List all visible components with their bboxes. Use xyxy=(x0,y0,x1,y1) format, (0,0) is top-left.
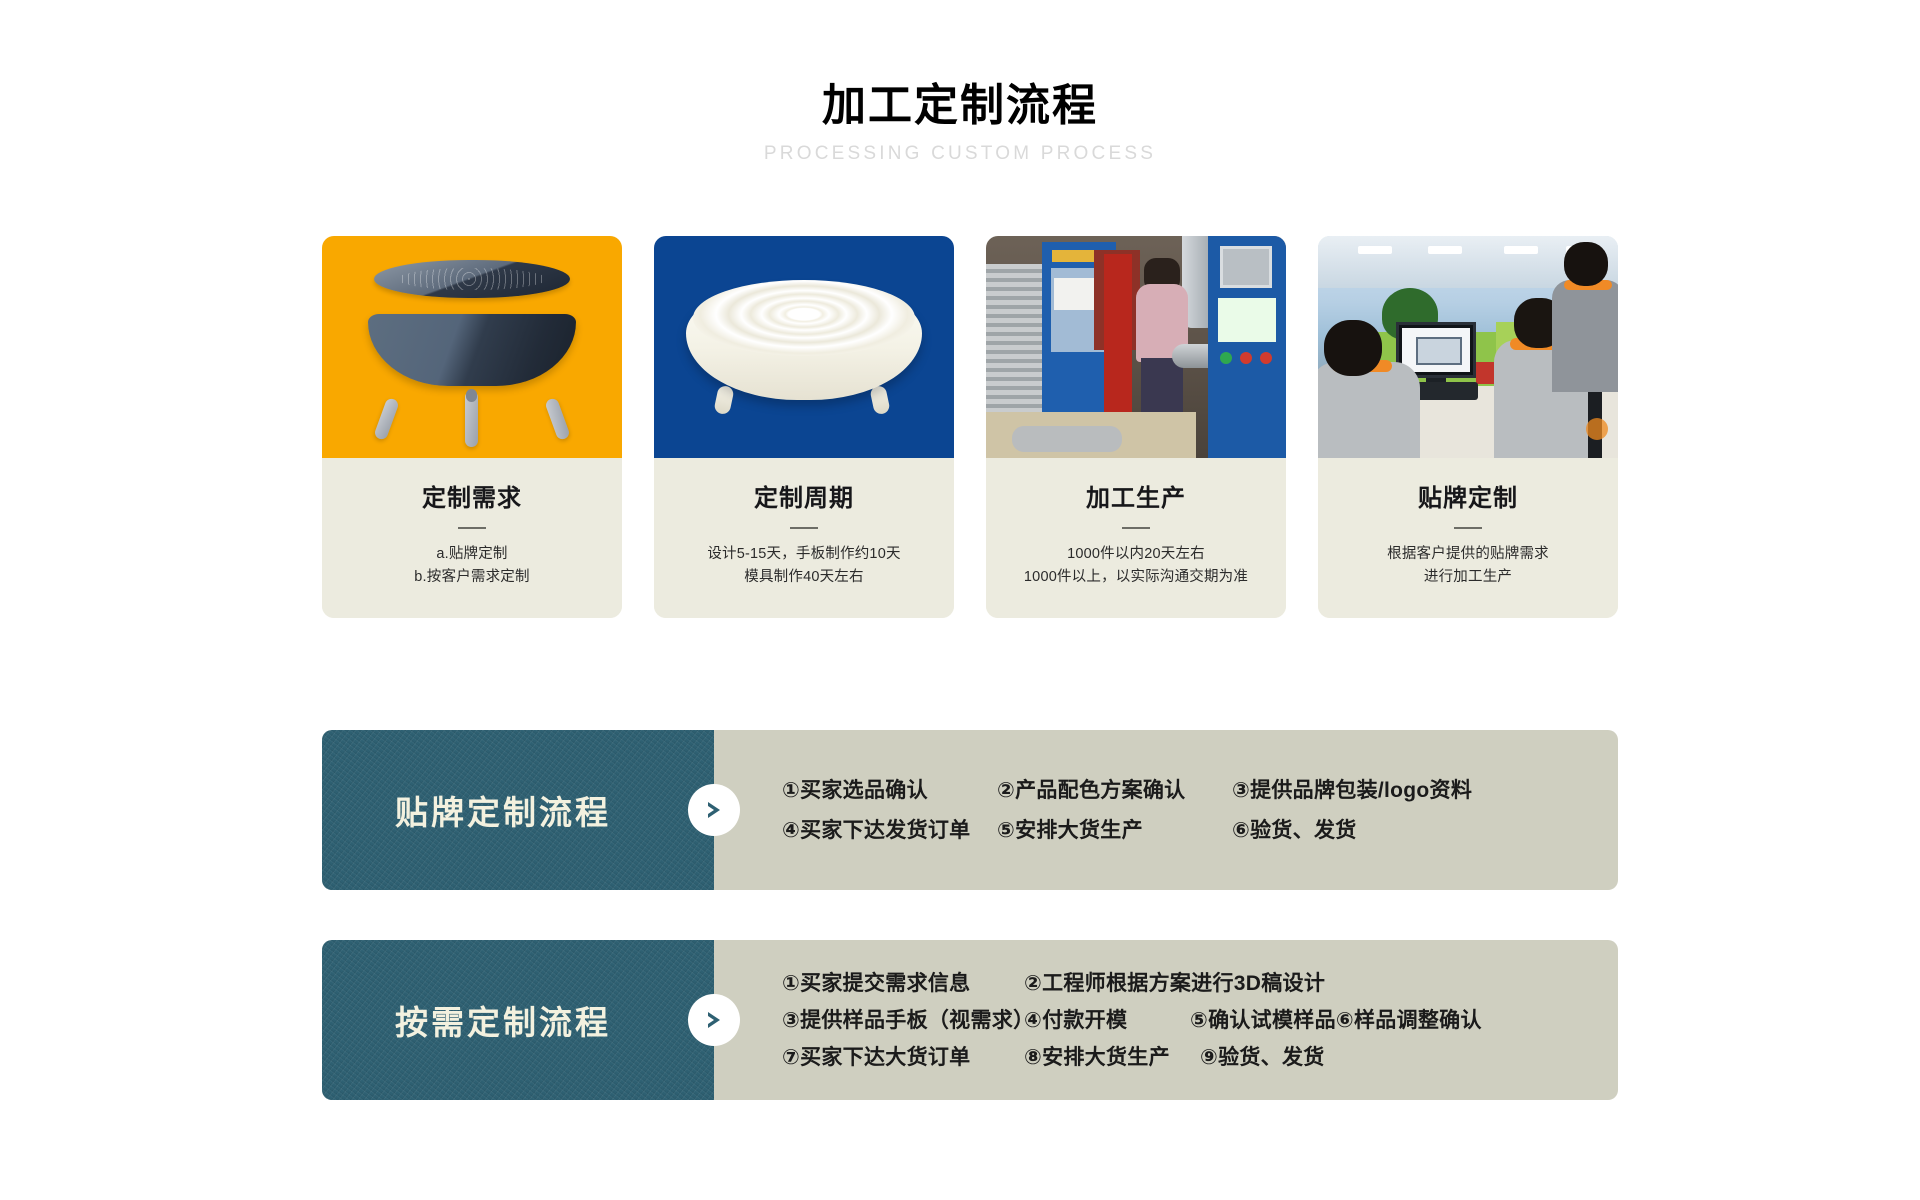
prototype-leg-icon xyxy=(713,385,734,416)
page-title: 加工定制流程 xyxy=(0,80,1920,133)
engineer-head xyxy=(1324,320,1382,376)
engineer-head xyxy=(1564,242,1608,286)
card-line: a.贴牌定制 xyxy=(334,543,610,566)
machine-column xyxy=(1104,254,1132,422)
product-lid-icon xyxy=(374,260,570,298)
process-card-1[interactable]: 定制需求 a.贴牌定制 b.按客户需求定制 xyxy=(322,236,622,618)
card-divider xyxy=(458,527,486,529)
page-subtitle: PROCESSING CUSTOM PROCESS xyxy=(0,143,1920,165)
card-line: b.按客户需求定制 xyxy=(334,566,610,589)
flow-row: ④买家下达发货订单 ⑤安排大货生产 ⑥验货、发货 xyxy=(782,810,1618,850)
pen-cup xyxy=(1476,362,1494,384)
flow-row: ⑦买家下达大货订单 ⑧安排大货生产 ⑨验货、发货 xyxy=(782,1039,1618,1076)
page-header: 加工定制流程 PROCESSING CUSTOM PROCESS xyxy=(0,80,1920,165)
product-leg-icon xyxy=(373,397,400,441)
card-line: 模具制作40天左右 xyxy=(666,566,942,589)
flow-step: ⑤确认试模样品 xyxy=(1190,1010,1336,1031)
card-body-4: 贴牌定制 根据客户提供的贴牌需求 进行加工生产 xyxy=(1318,458,1618,618)
chevron-right-icon[interactable] xyxy=(688,784,740,836)
card-media-exploded-product xyxy=(322,236,622,458)
card-title: 定制需求 xyxy=(334,478,610,513)
prototype-leg-icon xyxy=(869,385,890,416)
card-divider xyxy=(1122,527,1150,529)
prototype-body-icon xyxy=(686,282,922,400)
flow-step: ⑧安排大货生产 xyxy=(1024,1047,1200,1068)
flow-step: ④买家下达发货订单 xyxy=(782,820,997,841)
flow-step: ①买家提交需求信息 xyxy=(782,973,1024,994)
engineer-body xyxy=(1552,280,1618,392)
card-media-office-photo xyxy=(1318,236,1618,458)
process-cards: 定制需求 a.贴牌定制 b.按客户需求定制 定制周期 设计5-15天，手板制作约… xyxy=(322,236,1618,618)
stacked-parts xyxy=(986,264,1042,414)
product-leg-icon xyxy=(544,397,571,441)
flow-step: ⑥样品调整确认 xyxy=(1336,1010,1482,1031)
flow-items-custom: ①买家提交需求信息 ②工程师根据方案进行3D稿设计 ③提供样品手板（视需求） ④… xyxy=(714,940,1618,1100)
flow-row: ③提供样品手板（视需求） ④付款开模 ⑤确认试模样品 ⑥样品调整确认 xyxy=(782,1002,1618,1039)
flow-step: ①买家选品确认 xyxy=(782,780,997,801)
flow-banner-oem: 贴牌定制流程 ①买家选品确认 ②产品配色方案确认 ③提供品牌包装/logo资料 … xyxy=(322,730,1618,890)
card-line: 1000件以上，以实际沟通交期为准 xyxy=(998,566,1274,589)
card-body-2: 定制周期 设计5-15天，手板制作约10天 模具制作40天左右 xyxy=(654,458,954,618)
watermark-logo xyxy=(1586,418,1608,440)
flow-step: ⑥验货、发货 xyxy=(1232,820,1357,841)
card-media-white-prototype xyxy=(654,236,954,458)
card-title: 定制周期 xyxy=(666,478,942,513)
card-divider xyxy=(1454,527,1482,529)
card-title: 加工生产 xyxy=(998,478,1274,513)
flow-label-oem: 贴牌定制流程 xyxy=(322,730,714,890)
card-line: 1000件以内20天左右 xyxy=(998,543,1274,566)
flow-label-text: 按需定制流程 xyxy=(395,996,611,1044)
card-media-factory-photo xyxy=(986,236,1286,458)
card-line: 进行加工生产 xyxy=(1330,566,1606,589)
engineer-body xyxy=(1318,362,1420,458)
card-body-3: 加工生产 1000件以内20天左右 1000件以上，以实际沟通交期为准 xyxy=(986,458,1286,618)
flow-step: ④付款开模 xyxy=(1024,1010,1190,1031)
flow-step: ③提供品牌包装/logo资料 xyxy=(1232,780,1472,801)
molded-part xyxy=(1012,426,1122,452)
office-photo xyxy=(1318,236,1618,458)
flow-step: ⑨验货、发货 xyxy=(1200,1047,1325,1068)
process-card-2[interactable]: 定制周期 设计5-15天，手板制作约10天 模具制作40天左右 xyxy=(654,236,954,618)
factory-photo xyxy=(986,236,1286,458)
card-title: 贴牌定制 xyxy=(1330,478,1606,513)
chevron-right-icon[interactable] xyxy=(688,994,740,1046)
flow-step: ③提供样品手板（视需求） xyxy=(782,1010,1024,1031)
flow-row: ①买家选品确认 ②产品配色方案确认 ③提供品牌包装/logo资料 xyxy=(782,770,1618,810)
flow-items-oem: ①买家选品确认 ②产品配色方案确认 ③提供品牌包装/logo资料 ④买家下达发货… xyxy=(714,730,1618,890)
process-card-4[interactable]: 贴牌定制 根据客户提供的贴牌需求 进行加工生产 xyxy=(1318,236,1618,618)
card-body-1: 定制需求 a.贴牌定制 b.按客户需求定制 xyxy=(322,458,622,618)
process-card-3[interactable]: 加工生产 1000件以内20天左右 1000件以上，以实际沟通交期为准 xyxy=(986,236,1286,618)
card-divider xyxy=(790,527,818,529)
flow-step: ②工程师根据方案进行3D稿设计 xyxy=(1024,973,1325,994)
flow-step: ⑤安排大货生产 xyxy=(997,820,1232,841)
flow-label-text: 贴牌定制流程 xyxy=(395,786,611,834)
flow-label-custom: 按需定制流程 xyxy=(322,940,714,1100)
product-leg-icon xyxy=(465,391,478,447)
flow-step: ⑦买家下达大货订单 xyxy=(782,1047,1024,1068)
flow-banner-custom: 按需定制流程 ①买家提交需求信息 ②工程师根据方案进行3D稿设计 ③提供样品手板… xyxy=(322,940,1618,1100)
control-panel xyxy=(1208,236,1286,458)
card-line: 设计5-15天，手板制作约10天 xyxy=(666,543,942,566)
flow-row: ①买家提交需求信息 ②工程师根据方案进行3D稿设计 xyxy=(782,965,1618,1002)
product-bowl-icon xyxy=(368,314,576,386)
card-line: 根据客户提供的贴牌需求 xyxy=(1330,543,1606,566)
flow-step: ②产品配色方案确认 xyxy=(997,780,1232,801)
page-root: 加工定制流程 PROCESSING CUSTOM PROCESS 定制需求 a.… xyxy=(0,0,1920,1200)
